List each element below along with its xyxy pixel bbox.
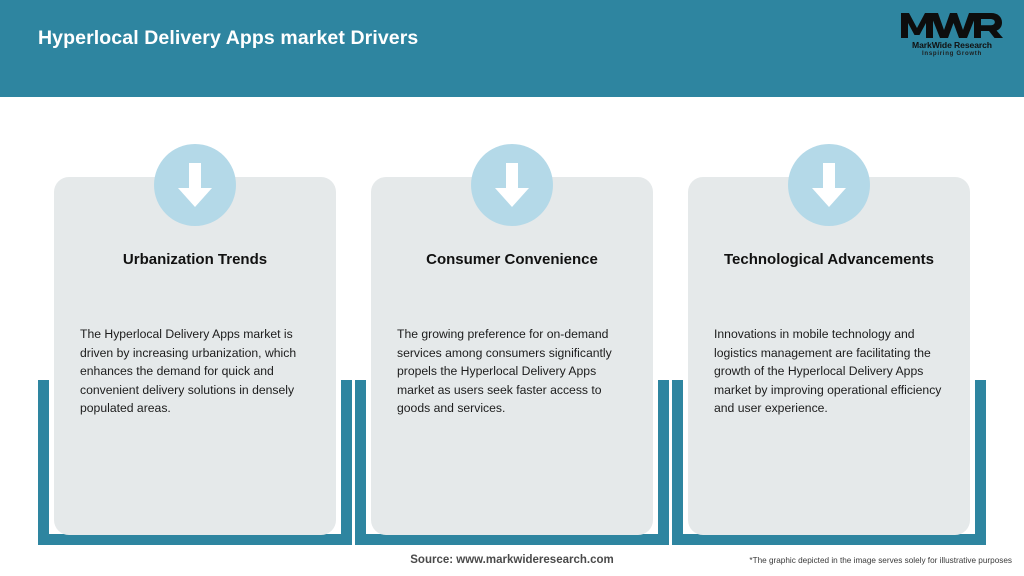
down-arrow-icon bbox=[471, 144, 553, 226]
card-body-text: The Hyperlocal Delivery Apps market is d… bbox=[80, 325, 316, 418]
page-title: Hyperlocal Delivery Apps market Drivers bbox=[38, 27, 418, 50]
down-arrow-icon bbox=[154, 144, 236, 226]
brand-logo: MarkWide Research Inspiring Growth bbox=[898, 10, 1006, 66]
card-body-text: Innovations in mobile technology and log… bbox=[714, 325, 950, 418]
logo-company-name: MarkWide Research bbox=[898, 40, 1006, 50]
logo-tagline: Inspiring Growth bbox=[898, 50, 1006, 57]
disclaimer-label: *The graphic depicted in the image serve… bbox=[749, 556, 1012, 565]
page-header: Hyperlocal Delivery Apps market Drivers … bbox=[0, 0, 1024, 97]
driver-card-3: Technological Advancements Innovations i… bbox=[672, 177, 986, 545]
card-panel: Consumer Convenience The growing prefere… bbox=[371, 177, 653, 535]
driver-card-1: Urbanization Trends The Hyperlocal Deliv… bbox=[38, 177, 352, 545]
card-panel: Technological Advancements Innovations i… bbox=[688, 177, 970, 535]
card-title: Technological Advancements bbox=[698, 251, 960, 269]
card-title: Urbanization Trends bbox=[64, 251, 326, 269]
card-body-text: The growing preference for on-demand ser… bbox=[397, 325, 633, 418]
down-arrow-icon bbox=[788, 144, 870, 226]
mwr-logo-icon bbox=[898, 10, 1006, 40]
card-panel: Urbanization Trends The Hyperlocal Deliv… bbox=[54, 177, 336, 535]
driver-card-2: Consumer Convenience The growing prefere… bbox=[355, 177, 669, 545]
card-title: Consumer Convenience bbox=[381, 251, 643, 269]
